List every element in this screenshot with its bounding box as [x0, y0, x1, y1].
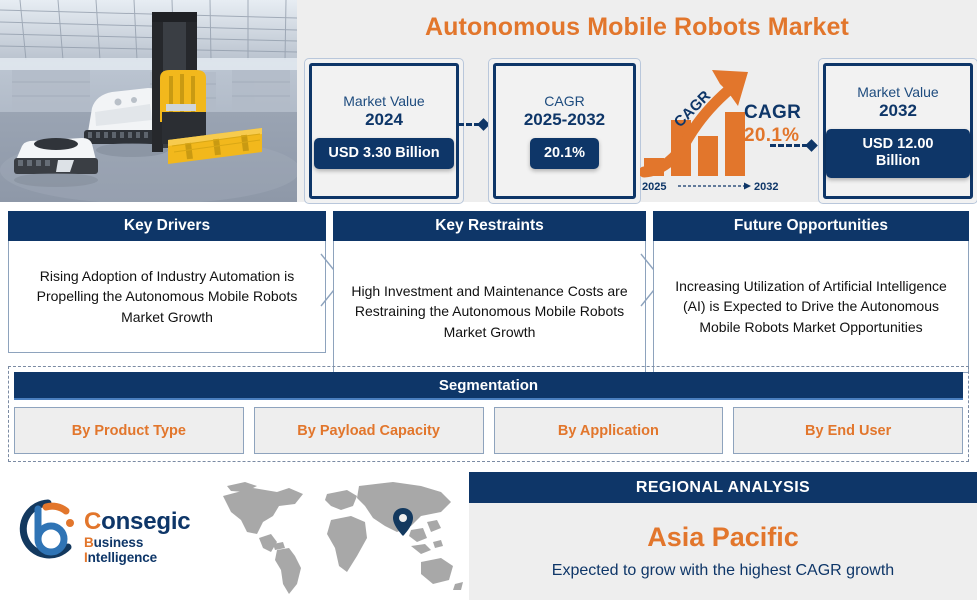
cagr-axis-end: 2032	[754, 181, 778, 193]
page-title: Autonomous Mobile Robots Market	[297, 6, 977, 48]
segmentation-section: Segmentation By Product Type By Payload …	[8, 366, 969, 462]
panel-text: Increasing Utilization of Artificial Int…	[653, 241, 969, 373]
cagr-axis-start: 2025	[642, 181, 666, 193]
logo-line-2: Business Intelligence	[84, 536, 214, 566]
panel-title: Key Drivers	[8, 211, 326, 241]
connector-dashed-1	[458, 120, 488, 129]
logo-accent-b: B	[84, 535, 94, 550]
panel-text: Rising Adoption of Industry Automation i…	[8, 241, 326, 353]
hero-image	[0, 0, 297, 202]
metric-label: CAGR	[544, 93, 584, 109]
panel-text: High Investment and Maintenance Costs ar…	[333, 241, 646, 383]
infographic-page: Autonomous Mobile Robots Market Market V…	[0, 0, 977, 600]
regional-analysis-panel: REGIONAL ANALYSIS Asia Pacific Expected …	[469, 472, 977, 600]
world-map	[215, 476, 465, 600]
metric-value: USD 3.30 Billion	[314, 138, 453, 169]
metric-year: 2025-2032	[524, 110, 605, 130]
panel-title: Future Opportunities	[653, 211, 969, 241]
segmentation-card-list: By Product Type By Payload Capacity By A…	[14, 407, 963, 454]
segmentation-title: Segmentation	[14, 372, 963, 400]
metric-card-market-value-2032: Market Value 2032 USD 12.00 Billion	[818, 58, 977, 204]
segmentation-card[interactable]: By Product Type	[14, 407, 244, 454]
logo-word-intelligence: ntelligence	[88, 550, 157, 565]
metric-label: Market Value	[343, 93, 424, 109]
region-name: Asia Pacific	[647, 523, 799, 553]
connector-dashed-2	[770, 141, 816, 150]
company-logo: Consegic Business Intelligence	[14, 497, 214, 567]
panel-title: Key Restraints	[333, 211, 646, 241]
metric-year: 2024	[365, 110, 403, 130]
metric-card-market-value-2024: Market Value 2024 USD 3.30 Billion	[304, 58, 464, 204]
panel-key-drivers: Key Drivers Rising Adoption of Industry …	[8, 211, 326, 353]
cagr-caption-label: CAGR	[744, 102, 801, 124]
consegic-logo-mark	[14, 497, 84, 563]
segmentation-card[interactable]: By Application	[494, 407, 724, 454]
logo-accent-c: C	[84, 508, 101, 535]
regional-analysis-heading: REGIONAL ANALYSIS	[469, 472, 977, 503]
metric-year: 2032	[879, 101, 917, 121]
region-subtitle: Expected to grow with the highest CAGR g…	[552, 562, 894, 580]
logo-rest-onsegic: onsegic	[101, 508, 190, 535]
regional-analysis-body: Asia Pacific Expected to grow with the h…	[469, 503, 977, 600]
metric-value: USD 12.00 Billion	[826, 129, 970, 178]
segmentation-card[interactable]: By Payload Capacity	[254, 407, 484, 454]
logo-line-1: Consegic	[84, 509, 214, 534]
metric-value: 20.1%	[530, 138, 599, 169]
panel-key-restraints: Key Restraints High Investment and Maint…	[333, 211, 646, 383]
map-pin-icon	[393, 508, 413, 536]
metric-card-cagr: CAGR 2025-2032 20.1%	[488, 58, 641, 204]
segmentation-card[interactable]: By End User	[733, 407, 963, 454]
metric-label: Market Value	[857, 84, 938, 100]
logo-wordmark: Consegic Business Intelligence	[84, 509, 214, 566]
logo-word-business: usiness	[94, 535, 144, 550]
panel-future-opportunities: Future Opportunities Increasing Utilizat…	[653, 211, 969, 373]
